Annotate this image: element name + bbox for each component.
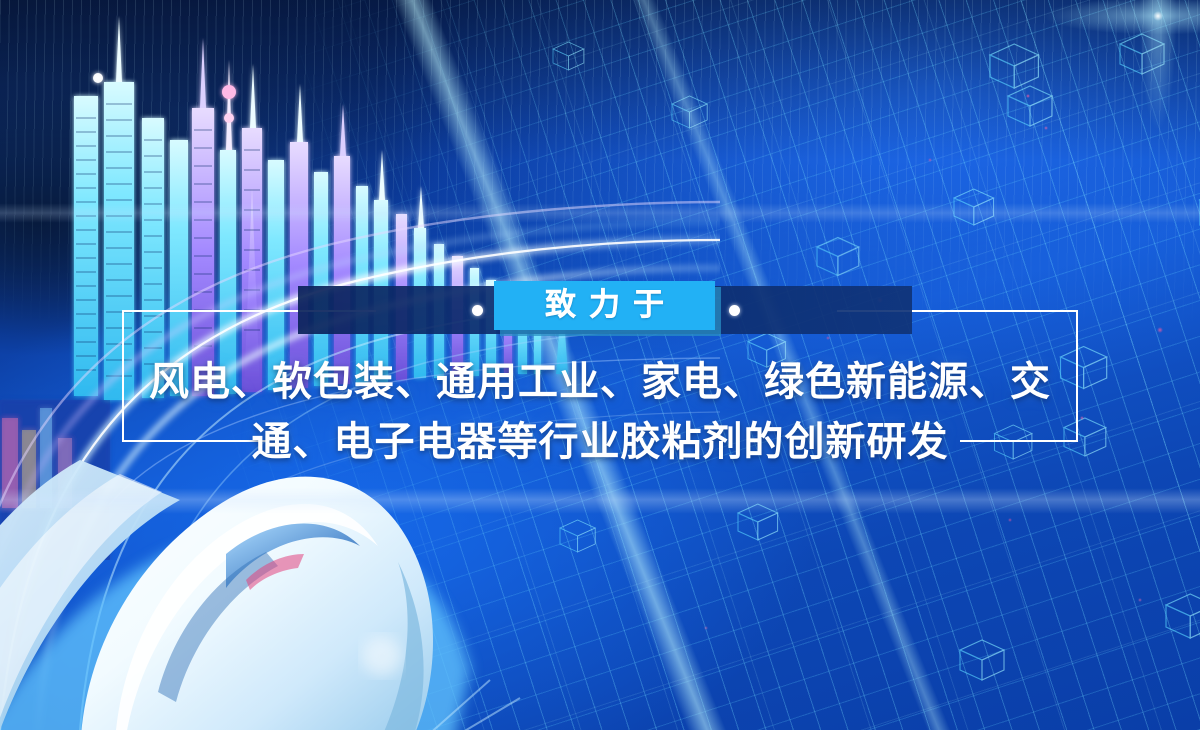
headline-line-2: 通、电子电器等行业胶粘剂的创新研发 xyxy=(122,412,1078,472)
high-speed-train-icon xyxy=(0,430,650,730)
headline: 风电、软包装、通用工业、家电、绿色新能源、交 通、电子电器等行业胶粘剂的创新研发 xyxy=(122,352,1078,472)
badge-label: 致力于 xyxy=(532,290,677,321)
connector-dot-right-icon xyxy=(729,305,740,316)
banner-stage: 致力于 风电、软包装、通用工业、家电、绿色新能源、交 通、电子电器等行业胶粘剂的… xyxy=(0,0,1200,730)
badge-plate: 致力于 xyxy=(494,281,715,330)
haze-band-lower xyxy=(0,488,1200,514)
headline-line-1: 风电、软包装、通用工业、家电、绿色新能源、交 xyxy=(122,352,1078,412)
haze-band-upper xyxy=(0,203,1200,223)
connector-dot-left-icon xyxy=(472,305,483,316)
badge[interactable]: 致力于 xyxy=(494,281,715,330)
